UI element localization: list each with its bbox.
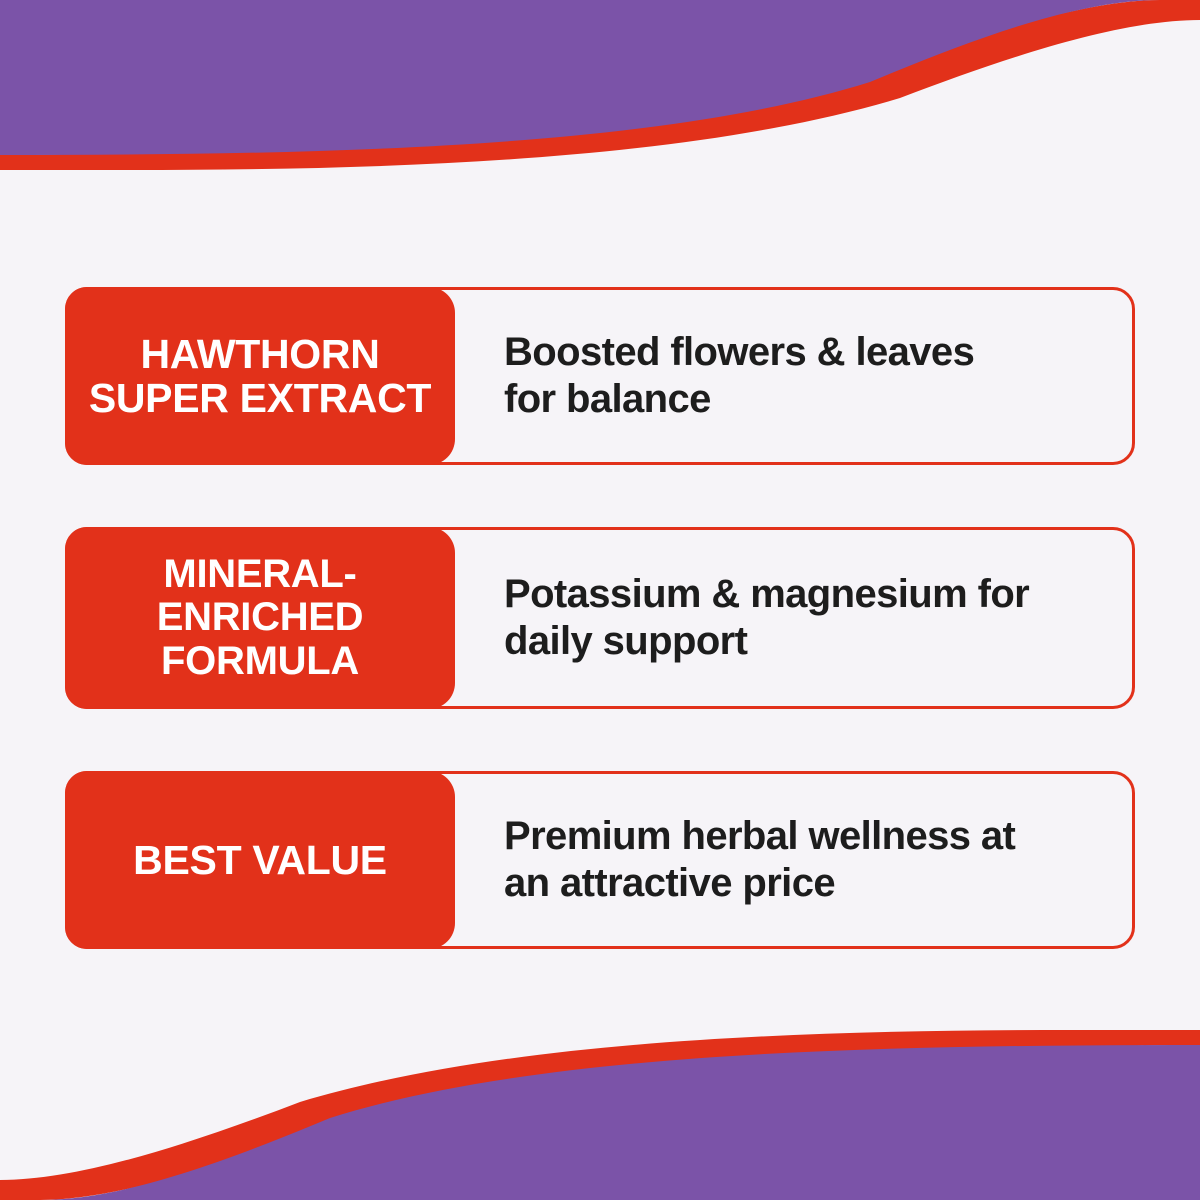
feature-card-description-block: Potassium & magnesium for daily support: [458, 530, 1132, 706]
feature-card-description-block: Boosted flowers & leaves for balance: [458, 290, 1132, 462]
feature-card[interactable]: MINERAL- ENRICHED FORMULA Potassium & ma…: [65, 527, 1135, 709]
feature-card-description-text: Boosted flowers & leaves for balance: [504, 329, 974, 423]
feature-card-list: HAWTHORN SUPER EXTRACT Boosted flowers &…: [65, 287, 1135, 949]
feature-card-description-text: Potassium & magnesium for daily support: [504, 571, 1029, 665]
feature-card-description-block: Premium herbal wellness at an attractive…: [458, 774, 1132, 946]
feature-card[interactable]: HAWTHORN SUPER EXTRACT Boosted flowers &…: [65, 287, 1135, 465]
purple-wave-top: [0, 0, 1160, 155]
purple-wave-bottom: [40, 1045, 1200, 1200]
feature-card-label-block: BEST VALUE: [65, 771, 455, 949]
bottom-decorative-banner: [0, 1030, 1200, 1200]
feature-card-label-text: HAWTHORN SUPER EXTRACT: [89, 332, 431, 421]
feature-card-label-text: MINERAL- ENRICHED FORMULA: [157, 553, 364, 683]
feature-card-label-text: BEST VALUE: [133, 838, 387, 882]
bottom-wave-graphic: [0, 1030, 1200, 1200]
feature-card[interactable]: BEST VALUE Premium herbal wellness at an…: [65, 771, 1135, 949]
feature-card-description-text: Premium herbal wellness at an attractive…: [504, 813, 1015, 907]
red-wave-top: [0, 0, 1200, 170]
feature-card-label-block: HAWTHORN SUPER EXTRACT: [65, 287, 455, 465]
feature-card-label-block: MINERAL- ENRICHED FORMULA: [65, 527, 455, 709]
feature-highlights-page: HAWTHORN SUPER EXTRACT Boosted flowers &…: [0, 0, 1200, 1200]
top-wave-graphic: [0, 0, 1200, 170]
top-decorative-banner: [0, 0, 1200, 170]
red-wave-bottom: [0, 1030, 1200, 1200]
